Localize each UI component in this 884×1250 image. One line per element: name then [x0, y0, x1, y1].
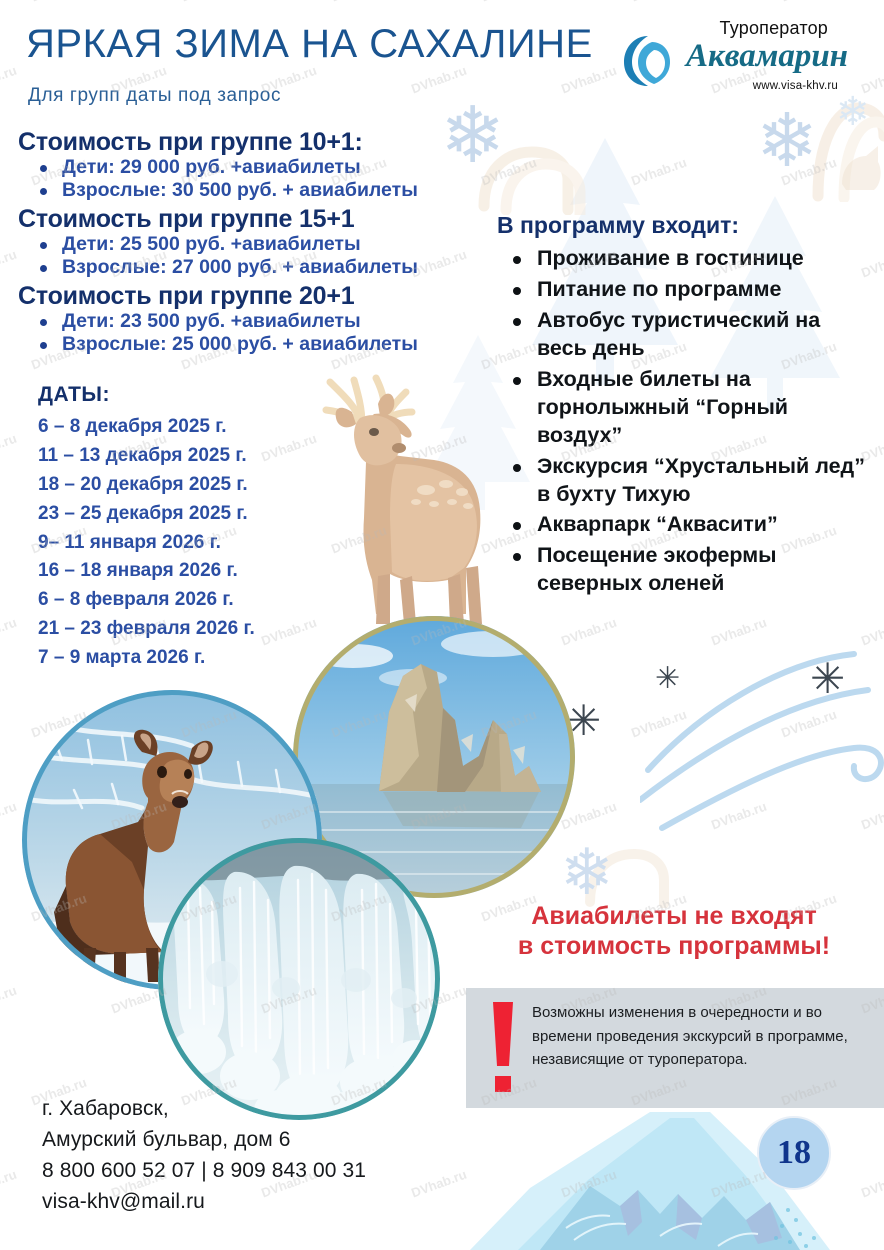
ski-pole-icon: [584, 846, 680, 908]
watermark-text: DVhab.ru: [779, 155, 838, 189]
date-item: 18 – 20 декабря 2025 г.: [38, 471, 255, 500]
operator-logo[interactable]: Туроператор Аквамарин www.visa-khv.ru: [622, 18, 862, 106]
price-item: Дети: 23 500 руб. +авиабилеты: [18, 310, 508, 333]
program-item: Входные билеты на горнолыжный “Горный во…: [497, 366, 867, 450]
page-title: ЯРКАЯ ЗИМА НА САХАЛИНЕ: [26, 22, 593, 67]
watermark-text: DVhab.ru: [0, 799, 19, 833]
snowflake-icon: ✳: [655, 664, 680, 694]
program-item: Автобус туристический на весь день: [497, 307, 867, 363]
date-item: 21 – 23 февраля 2026 г.: [38, 615, 255, 644]
watermark-text: DVhab.ru: [559, 615, 618, 649]
contact-address: Амурский бульвар, дом 6: [42, 1125, 366, 1156]
ice-falls-image: [158, 838, 440, 1120]
page-number: 18: [777, 1134, 811, 1172]
snowflake-icon: ❄: [560, 840, 614, 904]
watermark-text: DVhab.ru: [409, 1167, 468, 1201]
watermark-text: DVhab.ru: [709, 799, 768, 833]
page-subtitle: Для групп даты под запрос: [28, 85, 281, 107]
watermark-text: DVhab.ru: [559, 799, 618, 833]
snowflake-icon: ❄: [756, 104, 818, 178]
website-url: www.visa-khv.ru: [753, 80, 838, 92]
watermark-text: DVhab.ru: [779, 707, 838, 741]
watermark-text: DVhab.ru: [0, 983, 19, 1017]
snowflake-icon: ✳: [810, 658, 845, 700]
program-item: Проживание в гостинице: [497, 245, 867, 273]
program-item: Посещение экофермы северных оленей: [497, 542, 867, 598]
aquamarine-swirl-icon: [622, 34, 674, 88]
watermark-text: DVhab.ru: [709, 615, 768, 649]
watermark-text: DVhab.ru: [0, 247, 19, 281]
airfare-warning-line2: в стоимость программы!: [484, 932, 864, 962]
price-item: Взрослые: 25 000 руб. + авиабилеты: [18, 333, 508, 356]
program-item: Акварпарк “Аквасити”: [497, 511, 867, 539]
fox-silhouette-icon: [838, 138, 884, 198]
price-group-heading: Стоимость при группе 10+1:: [18, 128, 508, 156]
contacts-block: г. Хабаровск, Амурский бульвар, дом 6 8 …: [42, 1094, 366, 1217]
date-item: 23 – 25 декабря 2025 г.: [38, 500, 255, 529]
brand-name: Аквамарин: [686, 38, 848, 75]
program-title: В программу входит:: [497, 212, 867, 239]
deer-illustration: [300, 368, 515, 633]
price-section: Стоимость при группе 10+1: Дети: 29 000 …: [18, 128, 508, 358]
disclaimer-text: Возможны изменения в очередности и во вр…: [532, 1001, 874, 1072]
page-number-badge: 18: [757, 1116, 831, 1190]
watermark-text: DVhab.ru: [629, 707, 688, 741]
program-item: Экскурсия “Хрустальный лед” в бухту Тиху…: [497, 453, 867, 509]
price-group-heading: Стоимость при группе 15+1: [18, 205, 508, 233]
price-group: Стоимость при группе 15+1 Дети: 25 500 р…: [18, 205, 508, 280]
contact-phones[interactable]: 8 800 600 52 07 | 8 909 843 00 31: [42, 1156, 366, 1187]
date-item: 9– 11 января 2026 г.: [38, 529, 255, 558]
date-item: 6 – 8 декабря 2025 г.: [38, 413, 255, 442]
operator-label: Туроператор: [720, 18, 828, 39]
watermark-text: DVhab.ru: [629, 155, 688, 189]
airfare-warning: Авиабилеты не входят в стоимость програм…: [484, 902, 864, 961]
photo-ice-falls: [158, 838, 440, 1120]
price-item: Дети: 29 000 руб. +авиабилеты: [18, 156, 508, 179]
price-item: Дети: 25 500 руб. +авиабилеты: [18, 233, 508, 256]
date-item: 6 – 8 февраля 2026 г.: [38, 586, 255, 615]
poster-header: ЯРКАЯ ЗИМА НА САХАЛИНЕ Для групп даты по…: [0, 0, 884, 115]
program-section: В программу входит: Проживание в гостини…: [497, 212, 867, 601]
airfare-warning-line1: Авиабилеты не входят: [484, 902, 864, 932]
date-item: 16 – 18 января 2026 г.: [38, 557, 255, 586]
watermark-text: DVhab.ru: [0, 431, 19, 465]
exclamation-mark-icon: [490, 1002, 516, 1094]
dates-title: ДАТЫ:: [38, 383, 255, 407]
price-group: Стоимость при группе 10+1: Дети: 29 000 …: [18, 128, 508, 203]
contact-city: г. Хабаровск,: [42, 1094, 366, 1125]
watermark-text: DVhab.ru: [0, 1167, 19, 1201]
wind-swirl-icon: [640, 650, 884, 840]
contact-email[interactable]: visa-khv@mail.ru: [42, 1187, 366, 1218]
watermark-text: DVhab.ru: [859, 615, 884, 649]
date-item: 11 – 13 декабря 2025 г.: [38, 442, 255, 471]
watermark-text: DVhab.ru: [0, 615, 19, 649]
price-group-heading: Стоимость при группе 20+1: [18, 282, 508, 310]
price-item: Взрослые: 27 000 руб. + авиабилеты: [18, 256, 508, 279]
poster-page: ❄ ❄ ❄ ❄ ✳ ✳ ✳ ЯРКАЯ ЗИМА НА САХАЛИНЕ Для…: [0, 0, 884, 1250]
program-list: Проживание в гостинице Питание по програ…: [497, 245, 867, 598]
price-group: Стоимость при группе 20+1 Дети: 23 500 р…: [18, 282, 508, 357]
disclaimer-box: Возможны изменения в очередности и во вр…: [466, 988, 884, 1108]
program-item: Питание по программе: [497, 276, 867, 304]
price-item: Взрослые: 30 500 руб. + авиабилеты: [18, 179, 508, 202]
dates-section: ДАТЫ: 6 – 8 декабря 2025 г. 11 – 13 дека…: [38, 383, 255, 673]
watermark-text: DVhab.ru: [859, 799, 884, 833]
date-item: 7 – 9 марта 2026 г.: [38, 644, 255, 673]
